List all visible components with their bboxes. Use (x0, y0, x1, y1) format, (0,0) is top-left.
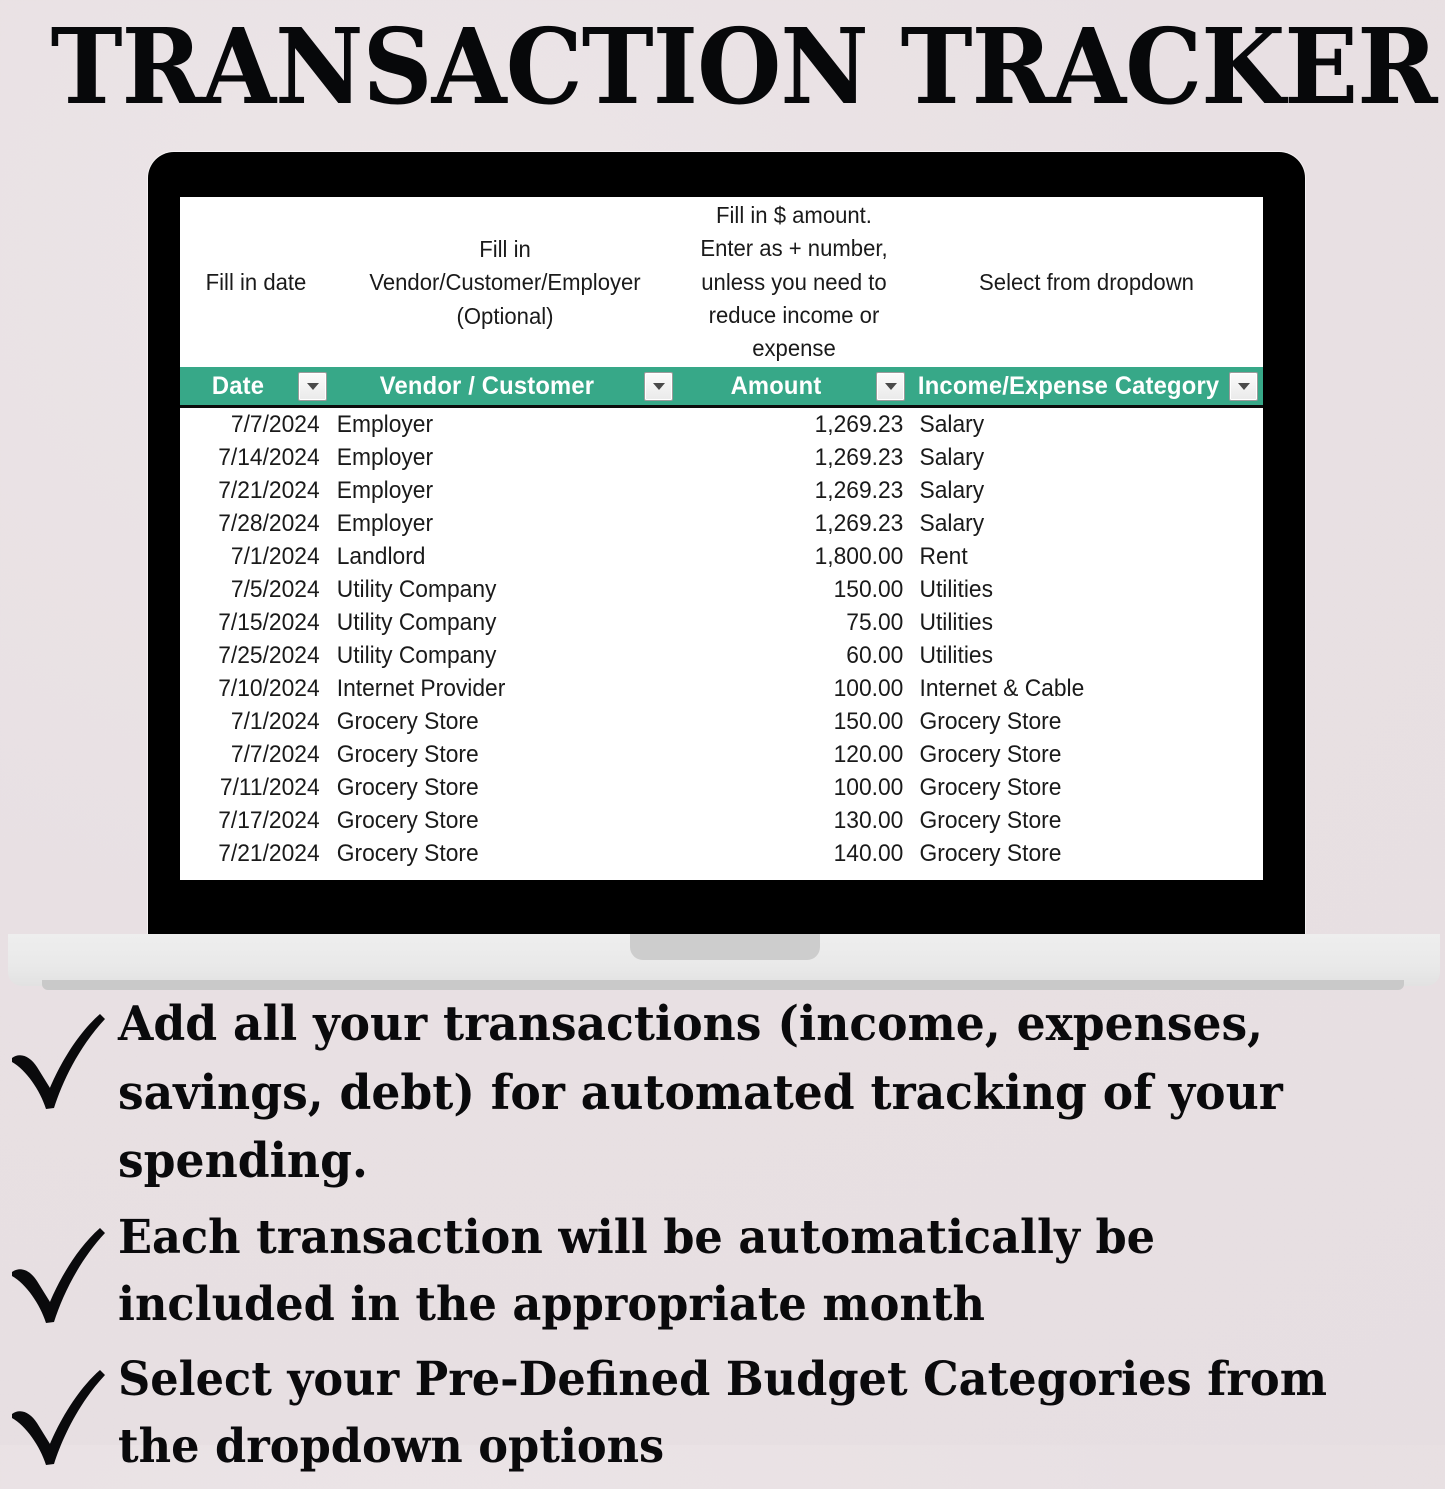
cell-date[interactable]: 7/1/2024 (180, 705, 324, 738)
cell-date[interactable]: 7/15/2024 (180, 606, 324, 639)
column-header-amount[interactable]: Amount (678, 367, 910, 405)
table-body: 7/7/2024Employer1,269.23Salary7/14/2024E… (180, 408, 1263, 870)
feature-bullet-1: Add all your transactions (income, expen… (0, 990, 1445, 1196)
cell-category[interactable]: Utilities (910, 606, 1245, 639)
column-header-category-label: Income/Expense Category (918, 372, 1219, 401)
cell-category[interactable]: Rent (910, 540, 1245, 573)
cell-amount[interactable]: 120.00 (690, 738, 910, 771)
cell-amount[interactable]: 150.00 (690, 705, 910, 738)
cell-vendor[interactable]: Employer (332, 507, 661, 540)
cell-date[interactable]: 7/1/2024 (180, 540, 324, 573)
feature-bullet-3: Select your Pre-Defined Budget Categorie… (0, 1346, 1445, 1480)
laptop-notch (630, 934, 820, 960)
laptop-foot (42, 980, 1404, 990)
cell-category[interactable]: Salary (910, 441, 1245, 474)
cell-date[interactable]: 7/7/2024 (180, 408, 324, 441)
cell-category[interactable]: Utilities (910, 639, 1245, 672)
cell-amount[interactable]: 100.00 (690, 672, 910, 705)
cell-date[interactable]: 7/11/2024 (180, 771, 324, 804)
spreadsheet: Fill in date Fill in Vendor/Customer/Emp… (180, 197, 1263, 880)
cell-date[interactable]: 7/28/2024 (180, 507, 324, 540)
cell-amount[interactable]: 60.00 (690, 639, 910, 672)
feature-bullet-3-text: Select your Pre-Defined Budget Categorie… (118, 1346, 1379, 1480)
table-header-row: Date Vendor / Customer Amount Income/Exp… (180, 367, 1263, 408)
table-row[interactable]: 7/7/2024Employer1,269.23Salary (180, 408, 1263, 441)
cell-vendor[interactable]: Grocery Store (332, 804, 661, 837)
feature-bullet-list: Add all your transactions (income, expen… (0, 990, 1445, 1489)
table-row[interactable]: 7/11/2024Grocery Store100.00Grocery Stor… (180, 771, 1263, 804)
cell-amount[interactable]: 100.00 (690, 771, 910, 804)
feature-bullet-2-text: Each transaction will be automatically b… (118, 1204, 1379, 1338)
cell-amount[interactable]: 1,800.00 (690, 540, 910, 573)
cell-category[interactable]: Grocery Store (910, 771, 1245, 804)
cell-category[interactable]: Salary (910, 507, 1245, 540)
cell-vendor[interactable]: Utility Company (332, 573, 661, 606)
cell-date[interactable]: 7/7/2024 (180, 738, 324, 771)
cell-vendor[interactable]: Grocery Store (332, 837, 661, 870)
instruction-date: Fill in date (185, 199, 328, 367)
cell-amount[interactable]: 150.00 (690, 573, 910, 606)
cell-category[interactable]: Utilities (910, 573, 1245, 606)
column-header-date-label: Date (183, 372, 293, 401)
cell-date[interactable]: 7/21/2024 (180, 837, 324, 870)
cell-date[interactable]: 7/17/2024 (180, 804, 324, 837)
column-header-vendor[interactable]: Vendor / Customer (332, 367, 678, 405)
laptop-mockup: Fill in date Fill in Vendor/Customer/Emp… (0, 152, 1445, 967)
cell-vendor[interactable]: Grocery Store (332, 738, 661, 771)
checkmark-icon-1 (0, 990, 118, 1112)
cell-amount[interactable]: 140.00 (690, 837, 910, 870)
table-row[interactable]: 7/17/2024Grocery Store130.00Grocery Stor… (180, 804, 1263, 837)
cell-vendor[interactable]: Grocery Store (332, 771, 661, 804)
column-header-date[interactable]: Date (180, 367, 332, 405)
cell-date[interactable]: 7/21/2024 (180, 474, 324, 507)
table-row[interactable]: 7/21/2024Grocery Store140.00Grocery Stor… (180, 837, 1263, 870)
filter-dropdown-icon-amount[interactable] (876, 372, 905, 401)
instruction-category: Select from dropdown (921, 199, 1253, 367)
laptop-screen: Fill in date Fill in Vendor/Customer/Emp… (180, 197, 1263, 880)
cell-vendor[interactable]: Grocery Store (332, 705, 661, 738)
cell-category[interactable]: Salary (910, 474, 1245, 507)
cell-category[interactable]: Salary (910, 408, 1245, 441)
cell-amount[interactable]: 1,269.23 (690, 474, 910, 507)
table-row[interactable]: 7/1/2024Grocery Store150.00Grocery Store (180, 705, 1263, 738)
table-row[interactable]: 7/21/2024Employer1,269.23Salary (180, 474, 1263, 507)
instruction-amount: Fill in $ amount. Enter as + number, unl… (685, 199, 903, 367)
table-row[interactable]: 7/14/2024Employer1,269.23Salary (180, 441, 1263, 474)
cell-category[interactable]: Internet & Cable (910, 672, 1245, 705)
cell-date[interactable]: 7/10/2024 (180, 672, 324, 705)
cell-vendor[interactable]: Employer (332, 441, 661, 474)
instruction-row: Fill in date Fill in Vendor/Customer/Emp… (180, 197, 1263, 367)
cell-category[interactable]: Grocery Store (910, 837, 1245, 870)
table-row[interactable]: 7/10/2024Internet Provider100.00Internet… (180, 672, 1263, 705)
instruction-amount-text: Fill in $ amount. Enter as + number, unl… (700, 199, 887, 366)
column-header-category[interactable]: Income/Expense Category (910, 367, 1263, 405)
cell-category[interactable]: Grocery Store (910, 705, 1245, 738)
filter-dropdown-icon-category[interactable] (1229, 372, 1258, 401)
instruction-date-text: Fill in date (206, 266, 307, 299)
table-row[interactable]: 7/28/2024Employer1,269.23Salary (180, 507, 1263, 540)
cell-date[interactable]: 7/14/2024 (180, 441, 324, 474)
cell-category[interactable]: Grocery Store (910, 738, 1245, 771)
cell-amount[interactable]: 1,269.23 (690, 441, 910, 474)
cell-vendor[interactable]: Utility Company (332, 639, 661, 672)
table-row[interactable]: 7/5/2024Utility Company150.00Utilities (180, 573, 1263, 606)
cell-vendor[interactable]: Internet Provider (332, 672, 661, 705)
table-row[interactable]: 7/1/2024Landlord1,800.00Rent (180, 540, 1263, 573)
instruction-vendor: Fill in Vendor/Customer/Employer (Option… (342, 199, 667, 367)
table-row[interactable]: 7/15/2024Utility Company75.00Utilities (180, 606, 1263, 639)
cell-vendor[interactable]: Utility Company (332, 606, 661, 639)
cell-vendor[interactable]: Employer (332, 408, 661, 441)
cell-vendor[interactable]: Employer (332, 474, 661, 507)
page-title: TRANSACTION TRACKER (51, 6, 1395, 129)
cell-category[interactable]: Grocery Store (910, 804, 1245, 837)
table-row[interactable]: 7/25/2024Utility Company60.00Utilities (180, 639, 1263, 672)
feature-bullet-2: Each transaction will be automatically b… (0, 1204, 1445, 1338)
cell-date[interactable]: 7/5/2024 (180, 573, 324, 606)
filter-dropdown-icon-vendor[interactable] (644, 372, 673, 401)
feature-bullet-1-text: Add all your transactions (income, expen… (118, 990, 1379, 1196)
cell-vendor[interactable]: Landlord (332, 540, 661, 573)
cell-amount[interactable]: 130.00 (690, 804, 910, 837)
cell-amount[interactable]: 75.00 (690, 606, 910, 639)
checkmark-icon-3 (0, 1346, 118, 1468)
instruction-category-text: Select from dropdown (979, 266, 1194, 299)
checkmark-icon-2 (0, 1204, 118, 1326)
cell-date[interactable]: 7/25/2024 (180, 639, 324, 672)
instruction-vendor-text: Fill in Vendor/Customer/Employer (Option… (369, 233, 640, 333)
cell-amount[interactable]: 1,269.23 (690, 507, 910, 540)
filter-dropdown-icon-date[interactable] (298, 372, 327, 401)
column-header-vendor-label: Vendor / Customer (340, 372, 635, 401)
column-header-amount-label: Amount (683, 372, 869, 401)
cell-amount[interactable]: 1,269.23 (690, 408, 910, 441)
table-row[interactable]: 7/7/2024Grocery Store120.00Grocery Store (180, 738, 1263, 771)
